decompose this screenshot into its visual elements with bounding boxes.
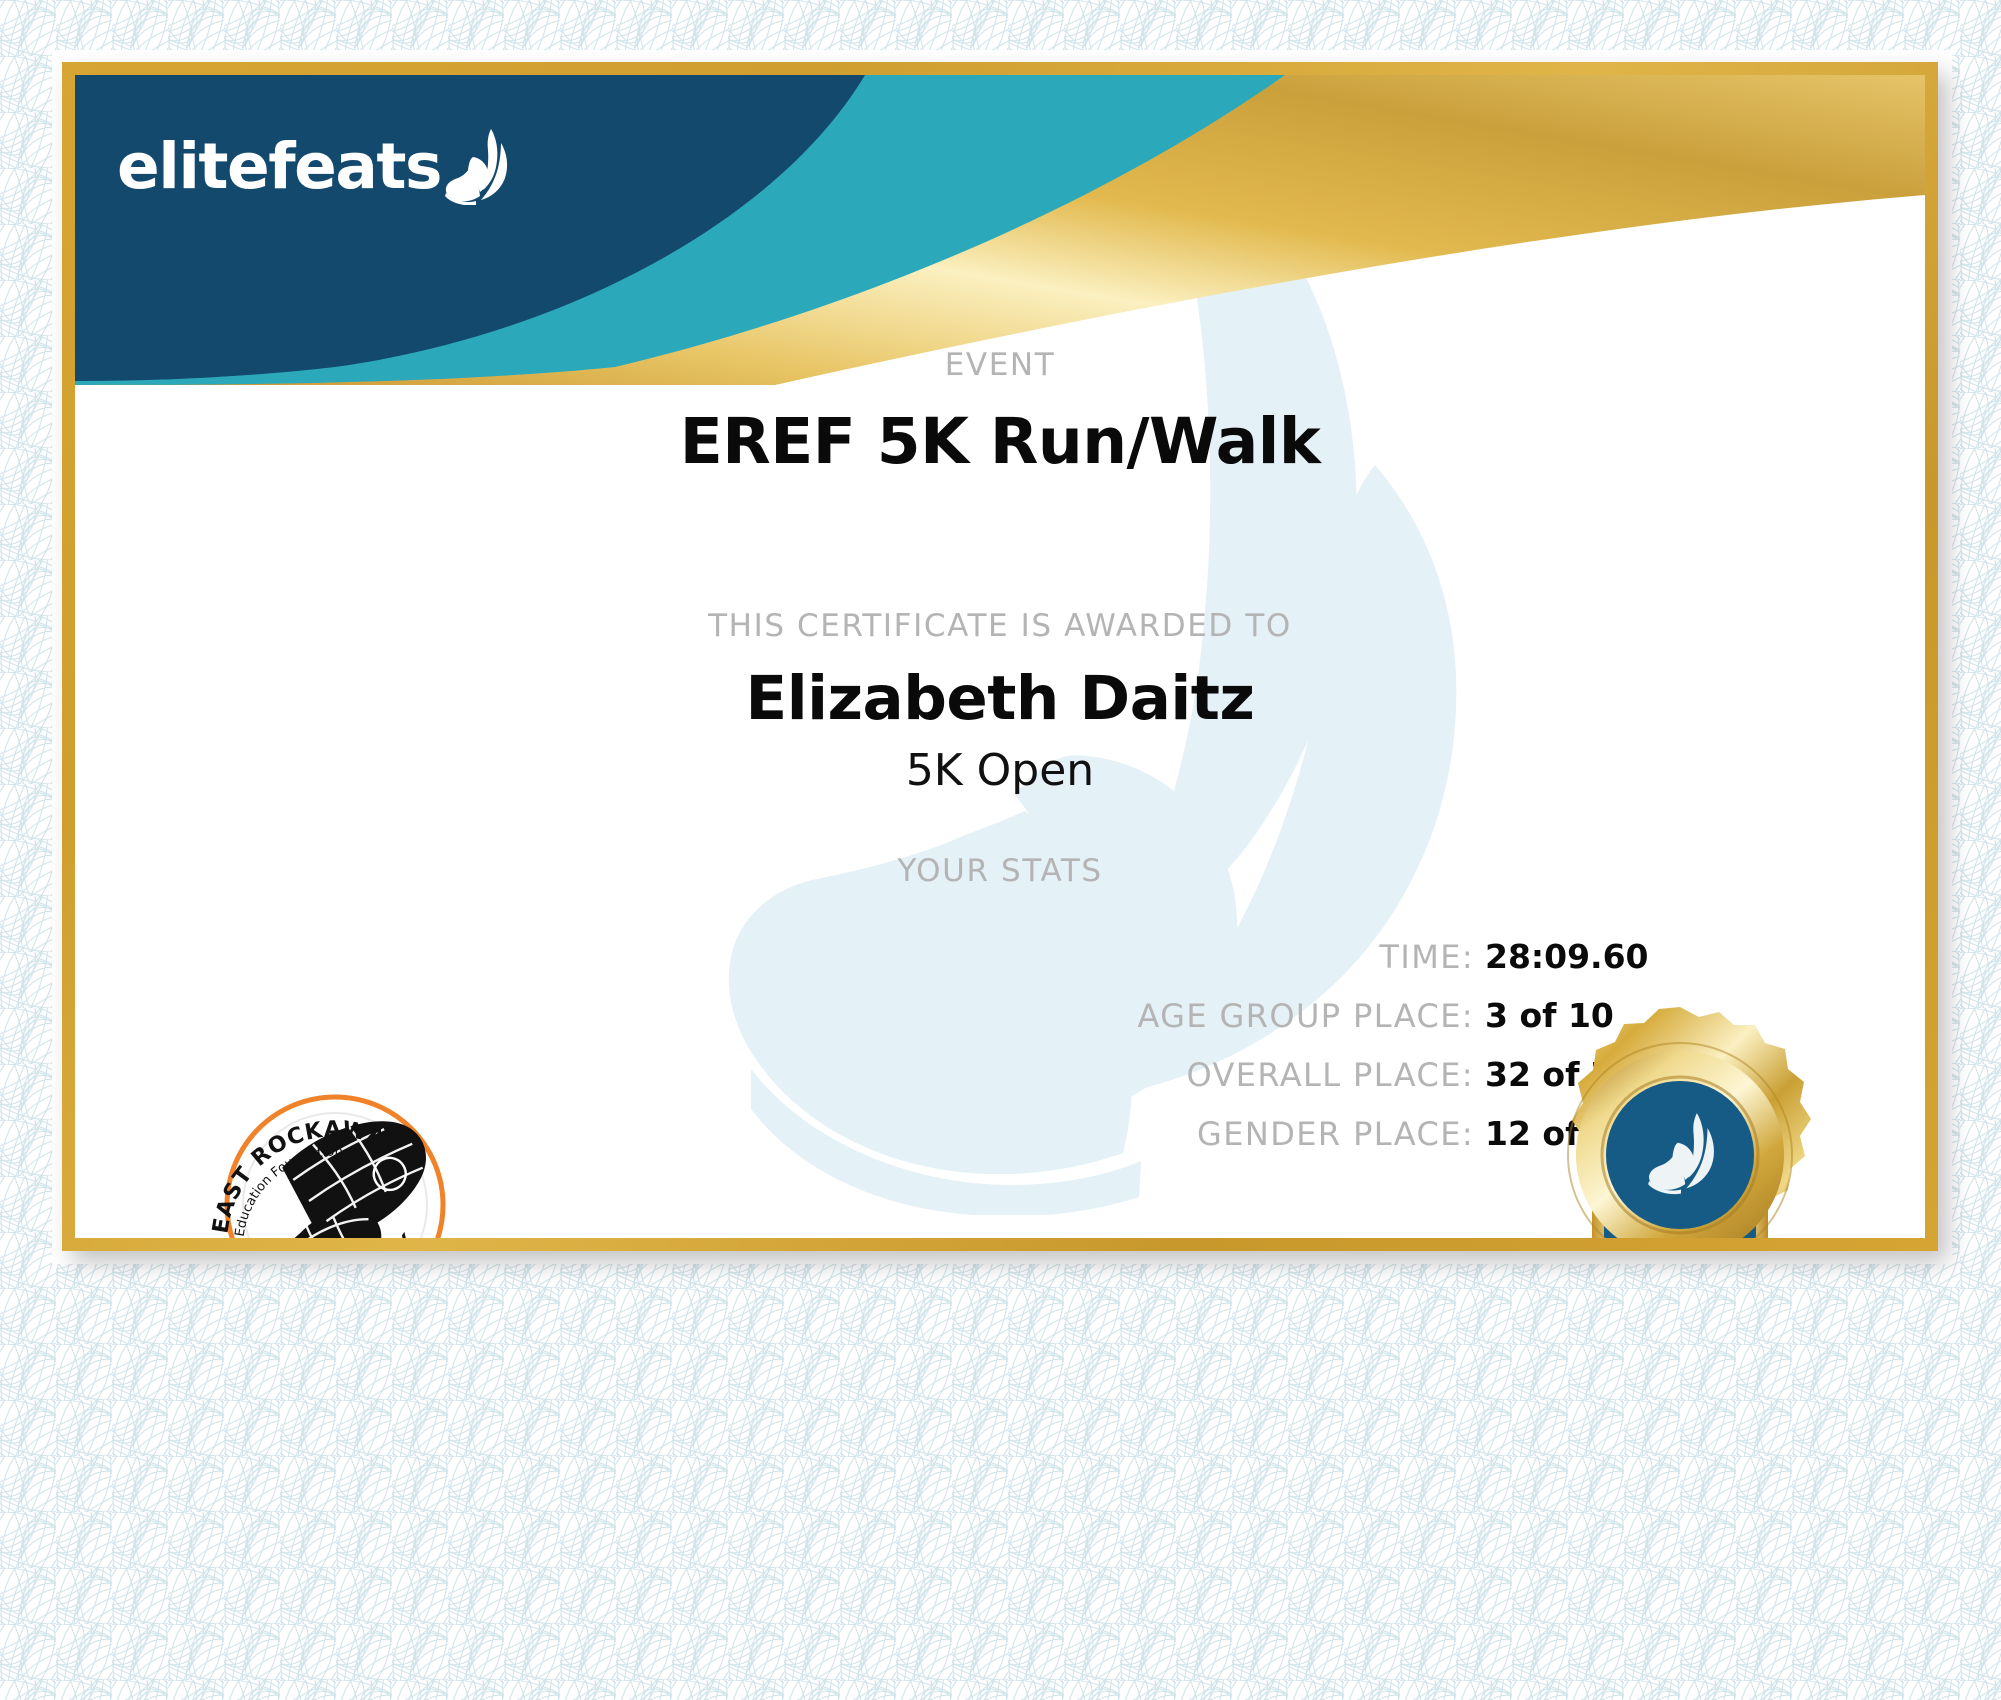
- stat-key: TIME:: [1379, 938, 1474, 976]
- stat-key: OVERALL PLACE:: [1186, 1056, 1474, 1094]
- stat-row-age-group-place: AGE GROUP PLACE: 3 of 10: [75, 996, 1665, 1035]
- certificate-body: elitefeats EVENT EREF 5K Run/Walk THIS C…: [75, 75, 1925, 1238]
- east-rockaway-race-logo: EAST ROCKAWAY Education Foundation SPRIN…: [185, 1075, 485, 1238]
- certificate-content: EVENT EREF 5K Run/Walk THIS CERTIFICATE …: [75, 75, 1925, 1238]
- awarded-to-label: THIS CERTIFICATE IS AWARDED TO: [75, 608, 1925, 644]
- your-stats-label: YOUR STATS: [75, 853, 1925, 889]
- certificate-page: elitefeats EVENT EREF 5K Run/Walk THIS C…: [0, 0, 2001, 1700]
- certificate-gold-frame: elitefeats EVENT EREF 5K Run/Walk THIS C…: [62, 62, 1938, 1251]
- event-label: EVENT: [75, 347, 1925, 383]
- stat-value: 28:09.60: [1485, 937, 1665, 976]
- stat-key: AGE GROUP PLACE:: [1137, 997, 1474, 1035]
- division-name: 5K Open: [75, 745, 1925, 796]
- recipient-name: Elizabeth Daitz: [75, 663, 1925, 734]
- event-name: EREF 5K Run/Walk: [75, 405, 1925, 478]
- finisher-medal-badge: 2025: [1530, 1005, 1830, 1238]
- stat-row-time: TIME: 28:09.60: [75, 937, 1665, 976]
- stat-key: GENDER PLACE:: [1197, 1115, 1474, 1153]
